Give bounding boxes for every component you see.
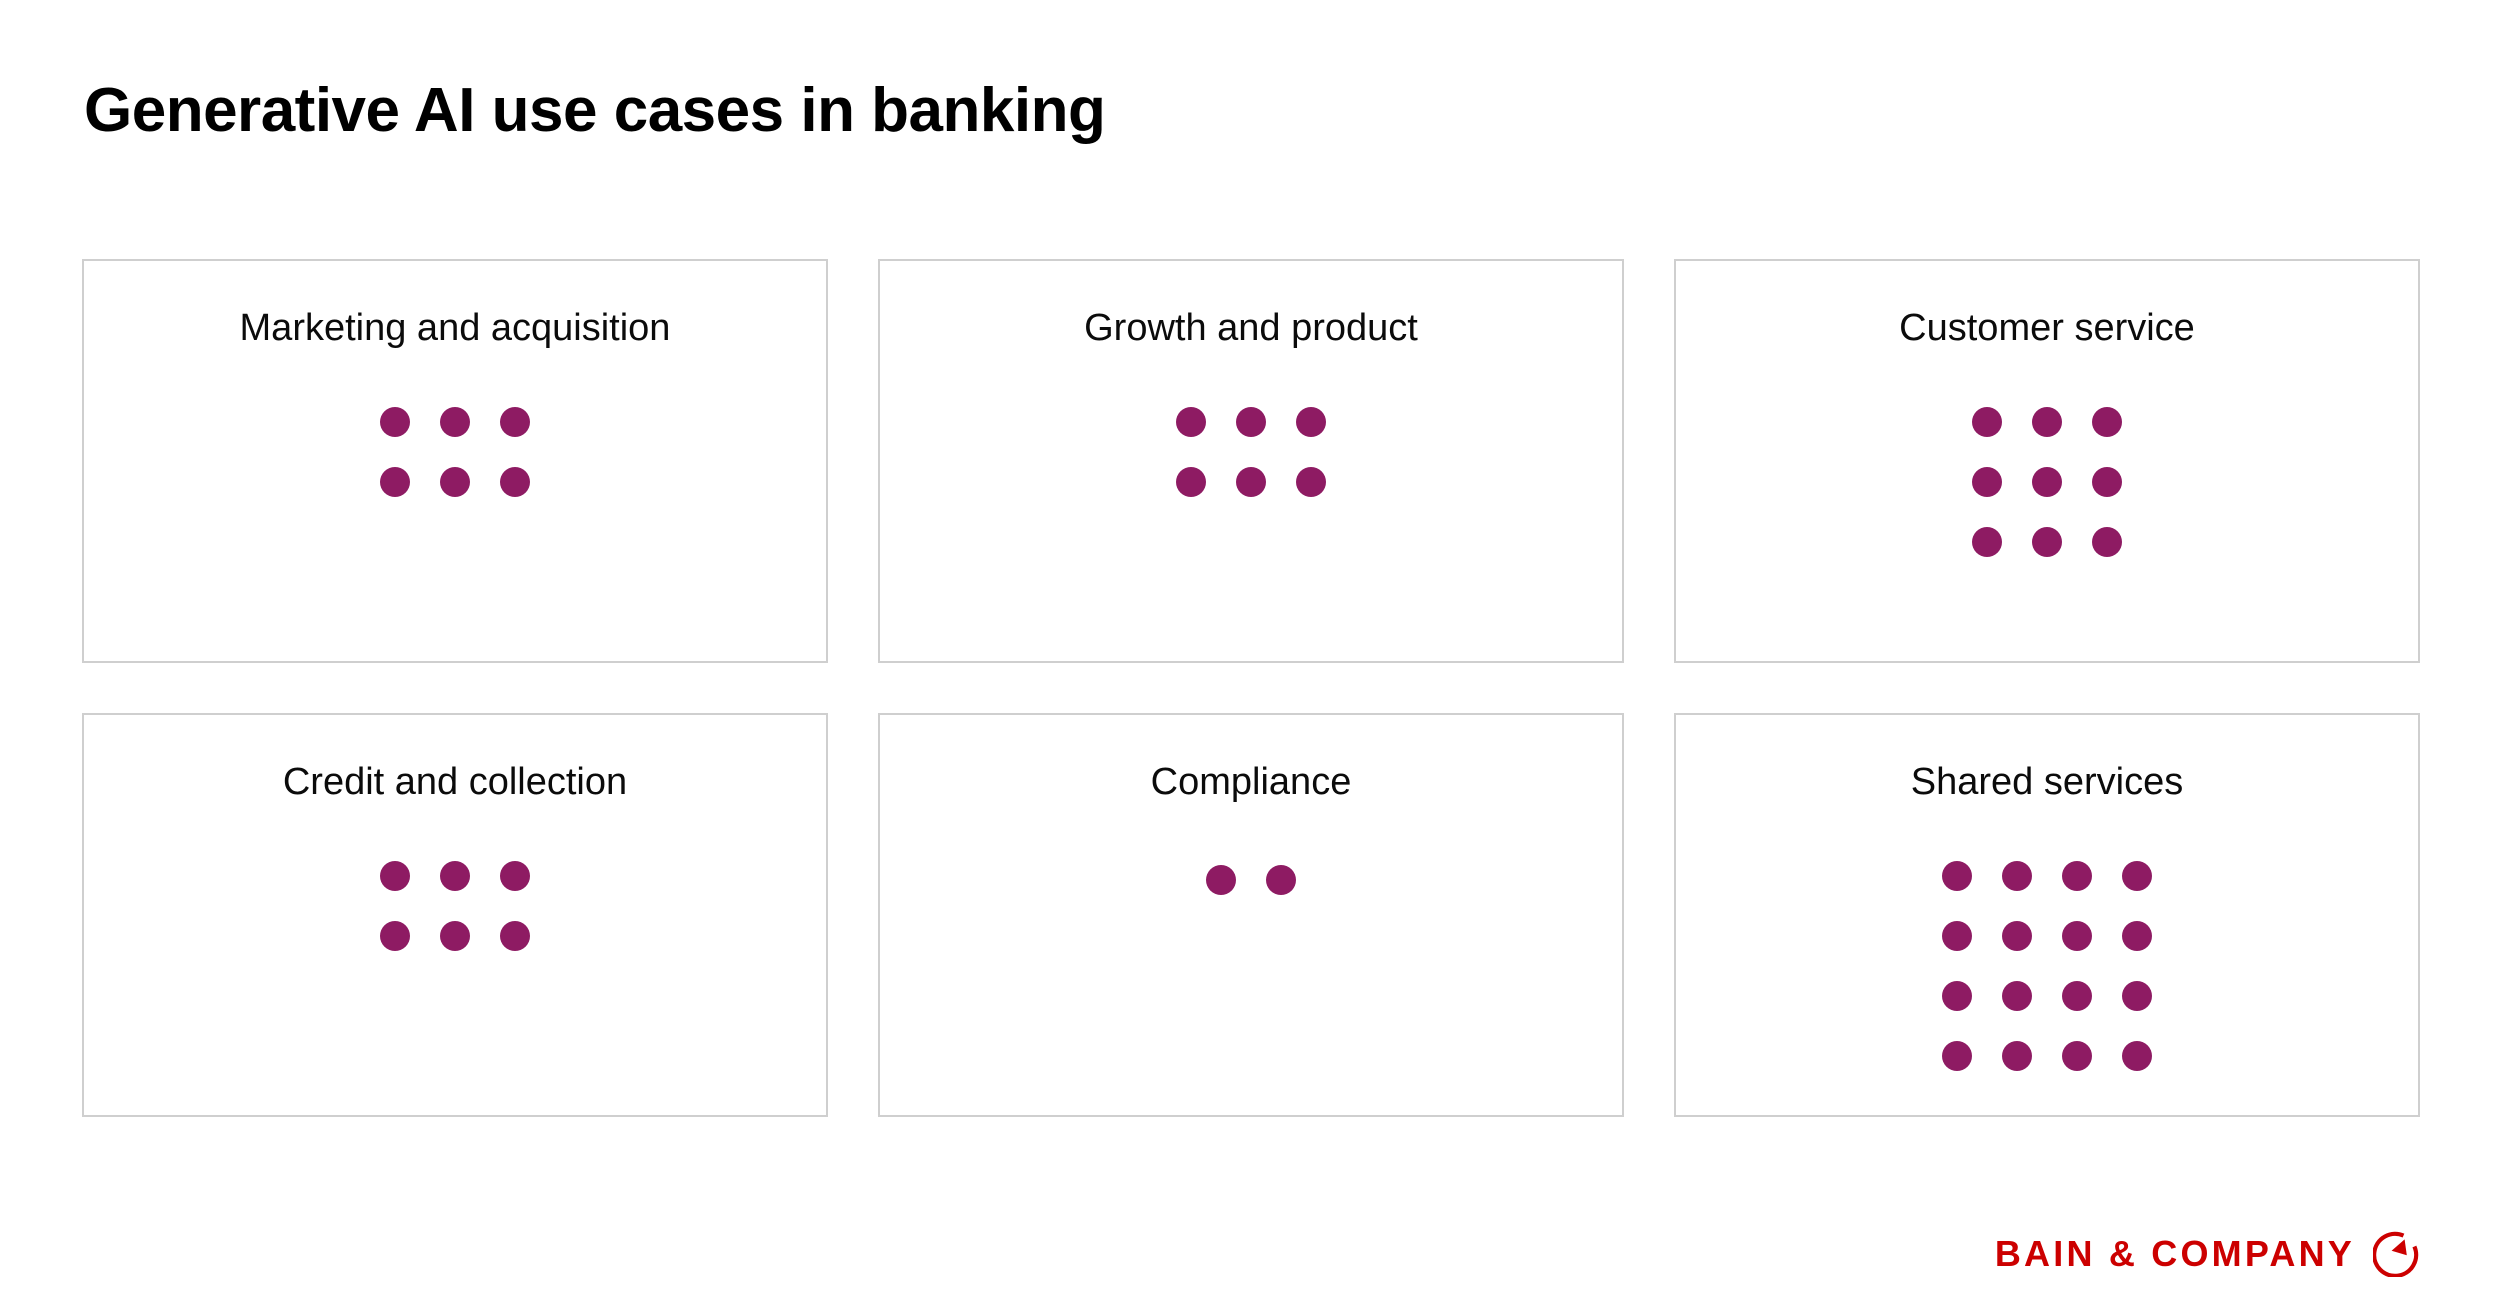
dot-icon xyxy=(1972,407,2002,437)
dot-icon xyxy=(2002,1041,2032,1071)
use-case-card-growth-and-product[interactable]: Growth and product xyxy=(878,259,1624,663)
dot-icon xyxy=(440,467,470,497)
dot-matrix xyxy=(380,407,530,497)
dot-icon xyxy=(2122,1041,2152,1071)
card-title: Customer service xyxy=(1676,305,2418,351)
dot-icon xyxy=(500,921,530,951)
dot-icon xyxy=(2092,527,2122,557)
dot-row xyxy=(1206,865,1296,895)
dot-row xyxy=(1942,861,2152,891)
dot-icon xyxy=(500,407,530,437)
card-title: Compliance xyxy=(880,759,1622,805)
dot-icon xyxy=(1266,865,1296,895)
dot-icon xyxy=(1972,527,2002,557)
dot-icon xyxy=(2032,407,2062,437)
card-title: Credit and collection xyxy=(84,759,826,805)
use-case-card-compliance[interactable]: Compliance xyxy=(878,713,1624,1117)
dot-row xyxy=(380,467,530,497)
card-title: Growth and product xyxy=(880,305,1622,351)
logo-wordmark: BAIN & COMPANY xyxy=(1995,1236,2355,1272)
use-case-card-shared-services[interactable]: Shared services xyxy=(1674,713,2420,1117)
dot-icon xyxy=(1296,467,1326,497)
dot-row xyxy=(380,861,530,891)
dot-matrix xyxy=(1176,407,1326,497)
dot-icon xyxy=(1176,467,1206,497)
dot-icon xyxy=(2002,981,2032,1011)
dot-row xyxy=(1942,981,2152,1011)
card-title: Marketing and acquisition xyxy=(84,305,826,351)
dot-icon xyxy=(2122,921,2152,951)
dot-icon xyxy=(1972,467,2002,497)
dot-icon xyxy=(2032,467,2062,497)
dot-row xyxy=(1176,407,1326,437)
use-case-card-marketing-and-acquisition[interactable]: Marketing and acquisition xyxy=(82,259,828,663)
page-title: Generative AI use cases in banking xyxy=(84,75,1105,147)
dot-icon xyxy=(380,861,410,891)
dot-icon xyxy=(2062,921,2092,951)
dot-row xyxy=(380,921,530,951)
dot-icon xyxy=(500,861,530,891)
dot-matrix xyxy=(1942,861,2152,1071)
use-case-card-customer-service[interactable]: Customer service xyxy=(1674,259,2420,663)
dot-row xyxy=(1972,467,2122,497)
dot-row xyxy=(1972,407,2122,437)
dot-matrix xyxy=(380,861,530,951)
dot-icon xyxy=(1176,407,1206,437)
dot-icon xyxy=(2032,527,2062,557)
dot-row xyxy=(1972,527,2122,557)
dot-icon xyxy=(2062,981,2092,1011)
dot-icon xyxy=(1296,407,1326,437)
dot-icon xyxy=(440,861,470,891)
dot-icon xyxy=(440,407,470,437)
dot-icon xyxy=(2122,981,2152,1011)
dot-icon xyxy=(1942,921,1972,951)
dot-icon xyxy=(2002,861,2032,891)
bain-company-logo: BAIN & COMPANY xyxy=(1995,1227,2419,1281)
dot-icon xyxy=(2002,921,2032,951)
use-case-card-grid: Marketing and acquisition Growth and pro… xyxy=(82,259,2420,1117)
dot-icon xyxy=(1236,467,1266,497)
dot-icon xyxy=(1942,861,1972,891)
dot-icon xyxy=(2062,861,2092,891)
dot-icon xyxy=(380,921,410,951)
dot-matrix xyxy=(1206,865,1296,895)
dot-icon xyxy=(1942,981,1972,1011)
card-title: Shared services xyxy=(1676,759,2418,805)
dot-icon xyxy=(2092,407,2122,437)
use-case-card-credit-and-collection[interactable]: Credit and collection xyxy=(82,713,828,1117)
dot-row xyxy=(1176,467,1326,497)
dot-icon xyxy=(1942,1041,1972,1071)
dot-icon xyxy=(500,467,530,497)
dot-icon xyxy=(2122,861,2152,891)
dot-icon xyxy=(1206,865,1236,895)
dot-icon xyxy=(380,407,410,437)
dot-row xyxy=(380,407,530,437)
dot-icon xyxy=(2092,467,2122,497)
dot-icon xyxy=(440,921,470,951)
dot-row xyxy=(1942,921,2152,951)
dot-matrix xyxy=(1972,407,2122,557)
dot-row xyxy=(1942,1041,2152,1071)
dot-icon xyxy=(1236,407,1266,437)
dot-icon xyxy=(380,467,410,497)
dot-icon xyxy=(2062,1041,2092,1071)
bain-circle-arrow-icon xyxy=(2373,1231,2419,1277)
